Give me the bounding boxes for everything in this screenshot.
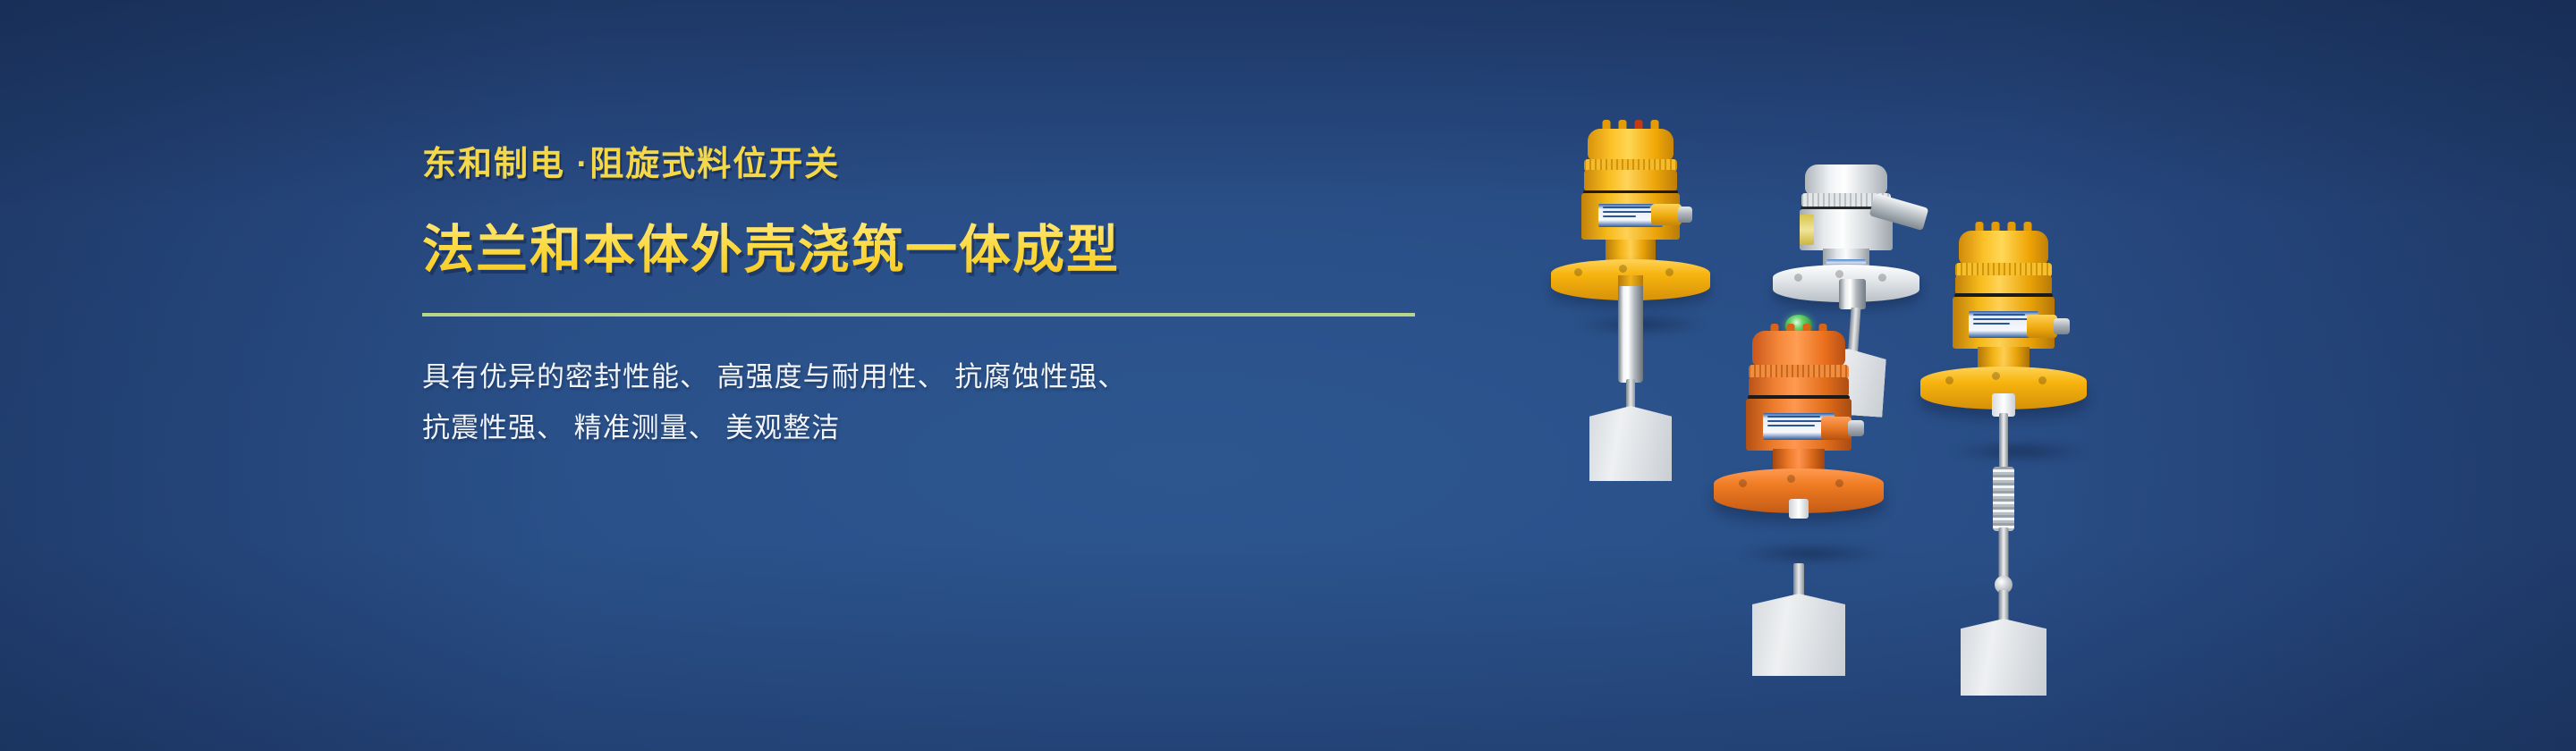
product-rotary-paddle-level-switch-orange: [1687, 311, 1911, 669]
banner-feature-list: 具有优异的密封性能、 高强度与耐用性、 抗腐蚀性强、 抗震性强、 精准测量、 美…: [422, 352, 1478, 453]
product-hero-banner: 东和制电 ·阻旋式料位开关 法兰和本体外壳浇筑一体成型 具有优异的密封性能、 高…: [0, 0, 2576, 751]
feature-line-1: 具有优异的密封性能、 高强度与耐用性、 抗腐蚀性强、: [422, 352, 1478, 402]
banner-copy-block: 东和制电 ·阻旋式料位开关 法兰和本体外壳浇筑一体成型 具有优异的密封性能、 高…: [422, 143, 1478, 453]
page-title: 法兰和本体外壳浇筑一体成型: [422, 219, 1478, 282]
product-image-group: [1512, 98, 2084, 653]
divider: [422, 313, 1415, 316]
banner-eyebrow: 东和制电 ·阻旋式料位开关: [422, 143, 1478, 187]
product-rotary-paddle-level-switch-yellow-extended: [1896, 215, 2111, 671]
feature-line-2: 抗震性强、 精准测量、 美观整洁: [422, 403, 1478, 453]
